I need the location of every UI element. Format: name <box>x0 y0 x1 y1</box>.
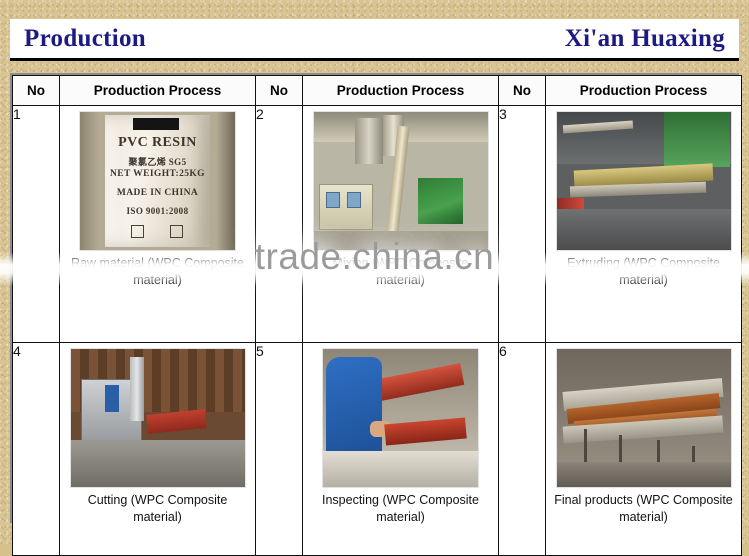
company-name: Xi'an Huaxing <box>565 25 725 53</box>
production-process-table: No Production Process No Production Proc… <box>10 73 739 523</box>
table-row: 1 PVC RESIN 聚氯乙烯 SG5 NET WEIGHT:25KG MAD… <box>13 106 742 343</box>
page-title: Production <box>24 25 146 53</box>
column-header-no-3: No <box>499 76 546 106</box>
resin-label-line2: 聚氯乙烯 SG5 <box>80 155 235 168</box>
final-products-photo <box>556 348 732 488</box>
column-header-no-1: No <box>13 76 60 106</box>
column-header-no-2: No <box>256 76 303 106</box>
mixing-machine-photo <box>313 111 489 251</box>
table-header-row: No Production Process No Production Proc… <box>13 76 742 106</box>
column-header-process-3: Production Process <box>546 76 742 106</box>
resin-label-line4: MADE IN CHINA <box>80 188 235 198</box>
cell-number-3: 3 <box>499 106 546 343</box>
cell-caption-1: Raw material (WPC Composite material) <box>64 255 251 289</box>
cell-caption-6: Final products (WPC Composite material) <box>550 492 737 526</box>
cutting-machine-photo <box>70 348 246 488</box>
cell-number-5: 5 <box>256 343 303 556</box>
title-banner: Production Xi'an Huaxing <box>10 19 739 61</box>
resin-label-line1: PVC RESIN <box>80 135 235 151</box>
resin-label-line3: NET WEIGHT:25KG <box>80 169 235 179</box>
cell-process-3: Extruding (WPC Composite material) <box>546 106 742 343</box>
column-header-process-1: Production Process <box>60 76 256 106</box>
inspecting-photo <box>322 348 479 488</box>
table-row: 4 Cutting (WPC Composite material) 5 <box>13 343 742 556</box>
cell-caption-3: Extruding (WPC Composite material) <box>550 255 737 289</box>
cell-caption-5: Inspecting (WPC Composite material) <box>307 492 494 526</box>
cell-process-1: PVC RESIN 聚氯乙烯 SG5 NET WEIGHT:25KG MADE … <box>60 106 256 343</box>
resin-label-line5: ISO 9001:2008 <box>80 206 235 216</box>
cell-number-6: 6 <box>499 343 546 556</box>
cell-process-6: Final products (WPC Composite material) <box>546 343 742 556</box>
column-header-process-2: Production Process <box>303 76 499 106</box>
cell-process-5: Inspecting (WPC Composite material) <box>303 343 499 556</box>
cell-caption-2: Mixing (WPC Composite material) <box>307 255 494 289</box>
extruding-line-photo <box>556 111 732 251</box>
cell-number-4: 4 <box>13 343 60 556</box>
cell-process-2: Mixing (WPC Composite material) <box>303 106 499 343</box>
pvc-resin-bag-photo: PVC RESIN 聚氯乙烯 SG5 NET WEIGHT:25KG MADE … <box>79 111 236 251</box>
cell-process-4: Cutting (WPC Composite material) <box>60 343 256 556</box>
cell-number-1: 1 <box>13 106 60 343</box>
cell-number-2: 2 <box>256 106 303 343</box>
cell-caption-4: Cutting (WPC Composite material) <box>64 492 251 526</box>
